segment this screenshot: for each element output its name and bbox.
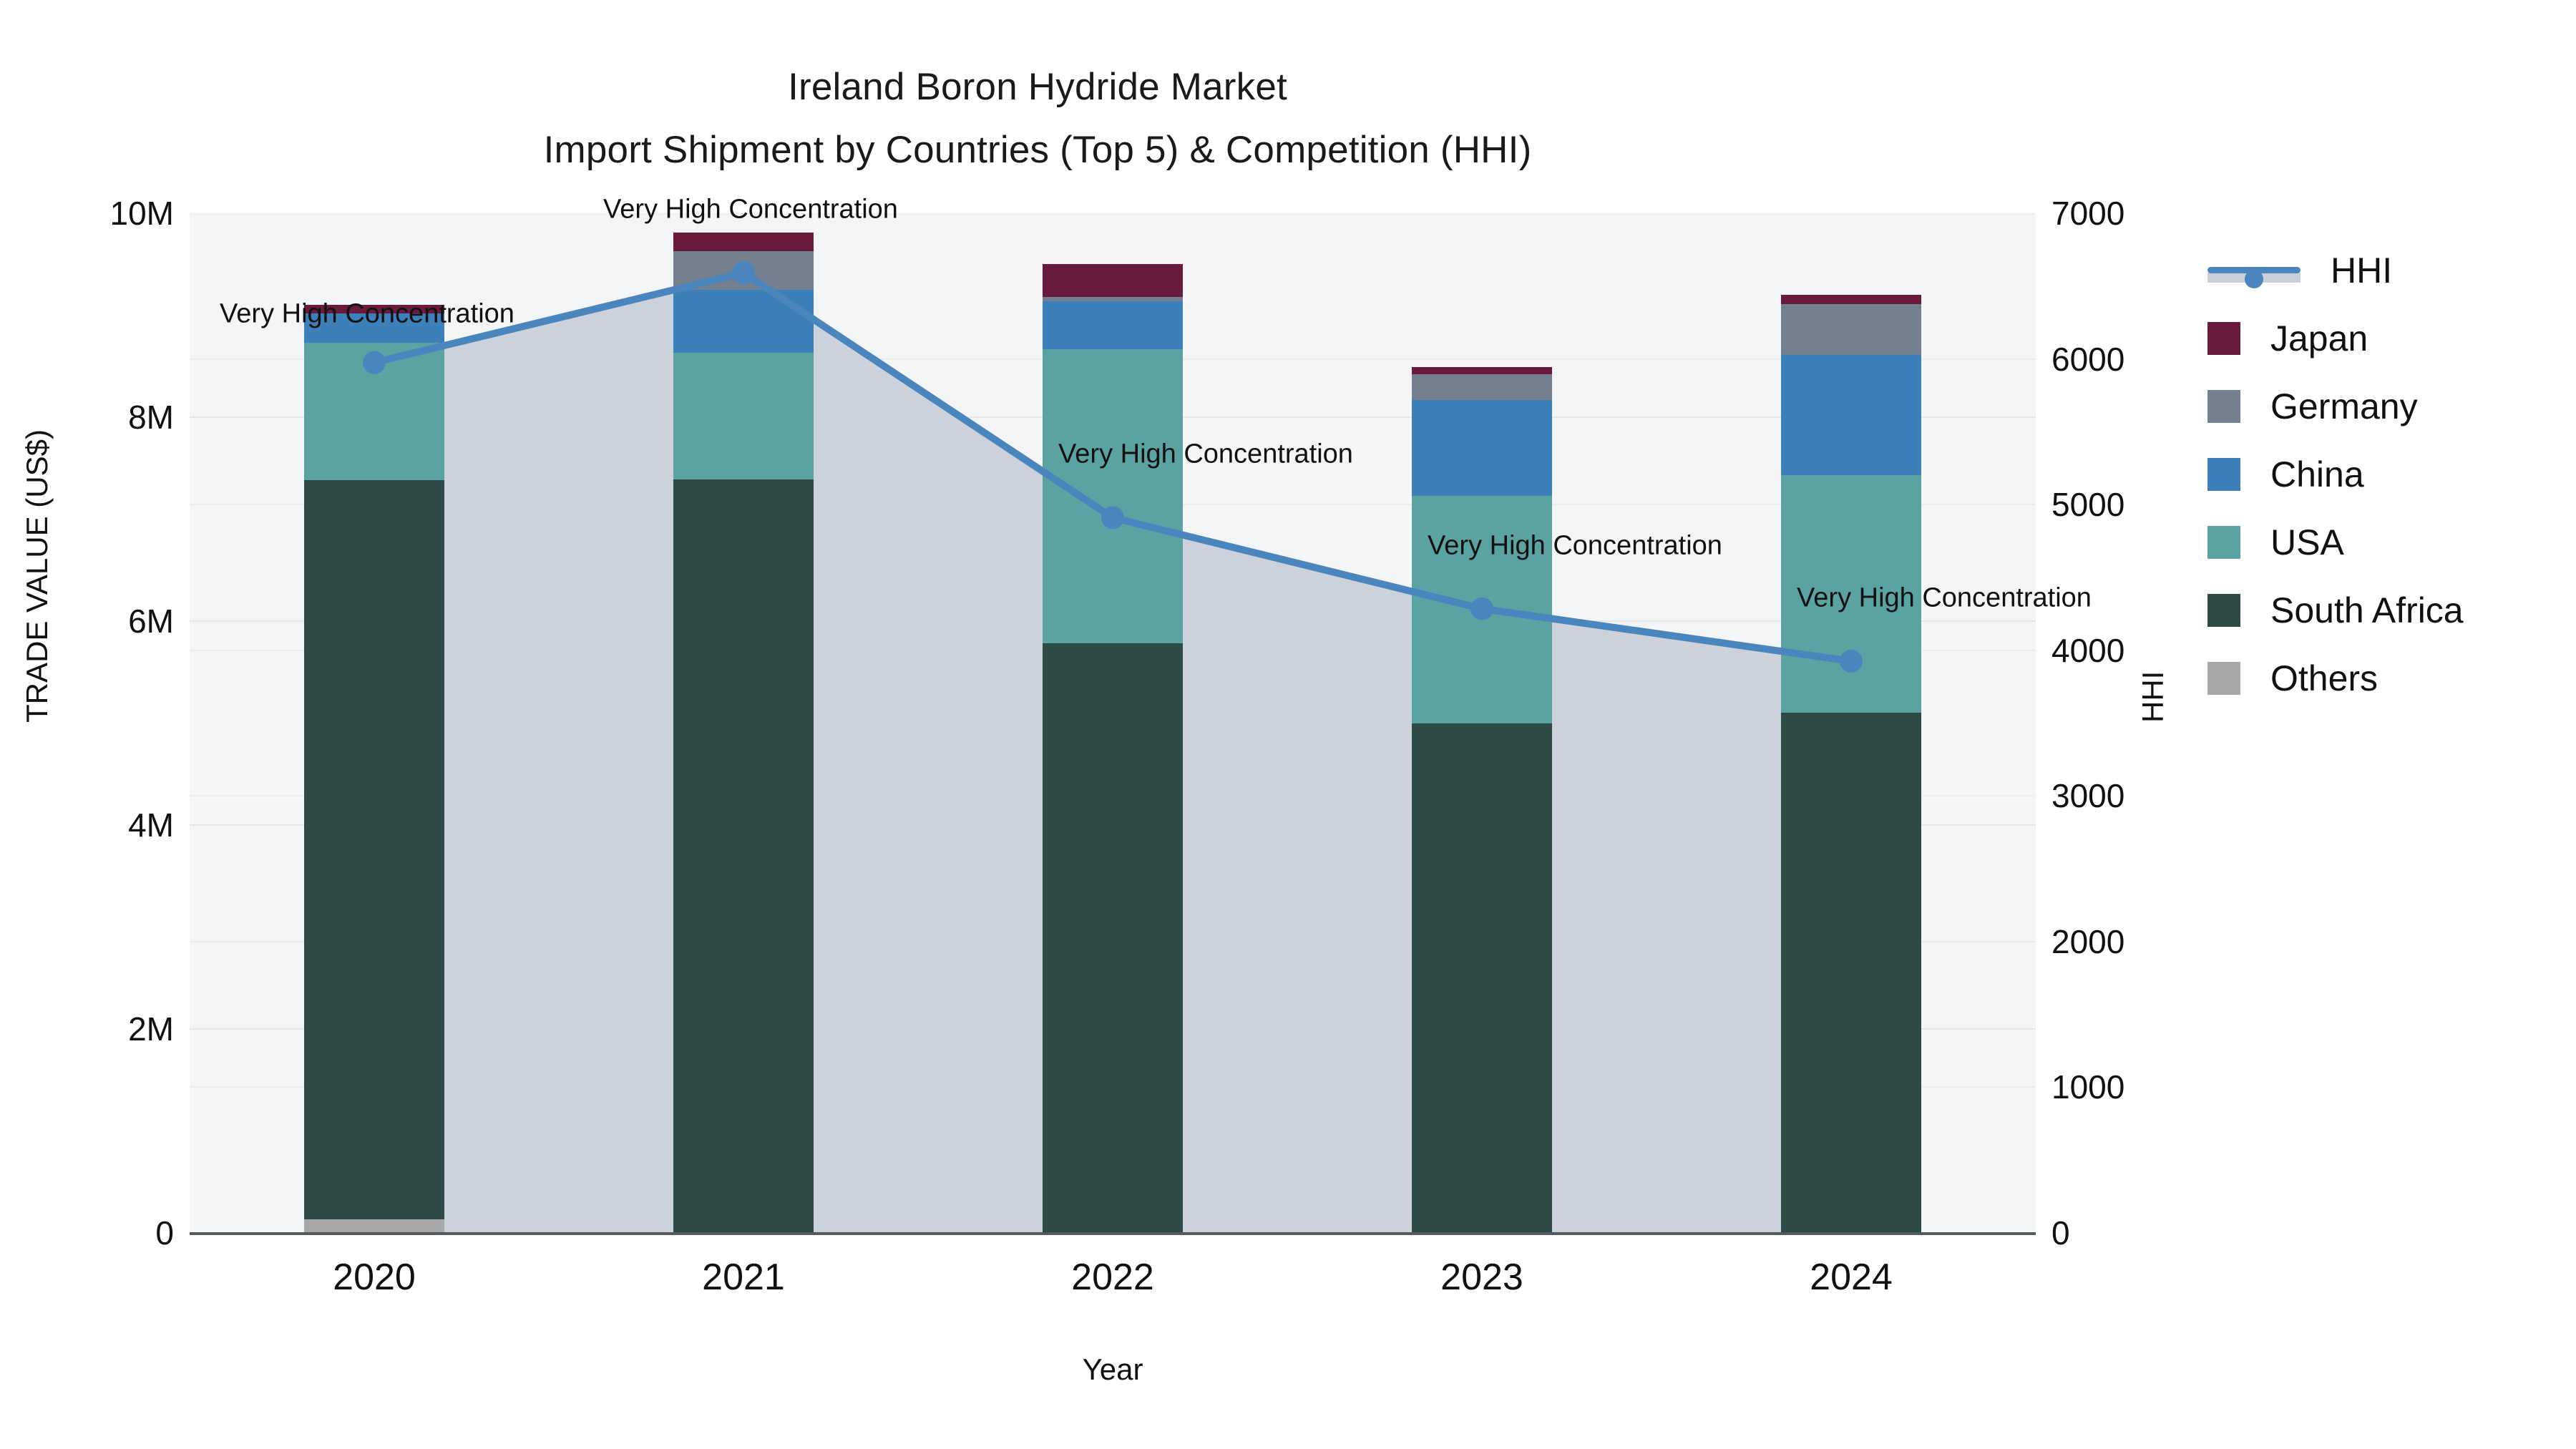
y-tick-label-right: 2000 bbox=[2051, 922, 2124, 961]
y-tick-label-left: 10M bbox=[110, 194, 174, 233]
annotation-2020: Very High Concentration bbox=[220, 298, 514, 329]
hhi-line-series[interactable] bbox=[190, 213, 2036, 1233]
plot-canvas bbox=[190, 213, 2036, 1233]
chart-subtitle: Import Shipment by Countries (Top 5) & C… bbox=[0, 119, 2075, 182]
y-tick-label-right: 5000 bbox=[2051, 485, 2124, 524]
legend-swatch-icon bbox=[2207, 322, 2240, 355]
hhi-marker-2024[interactable] bbox=[1840, 650, 1863, 673]
y-tick-label-right: 7000 bbox=[2051, 194, 2124, 233]
y-axis-title-left: TRADE VALUE (US$) bbox=[20, 429, 54, 723]
y-tick-label-left: 4M bbox=[128, 806, 174, 844]
y-tick-label-left: 6M bbox=[128, 602, 174, 640]
y-tick-label-right: 3000 bbox=[2051, 776, 2124, 815]
chart-title-block: Ireland Boron Hydride Market Import Ship… bbox=[0, 56, 2075, 182]
legend-label: Others bbox=[2270, 658, 2378, 699]
legend-label: Germany bbox=[2270, 386, 2418, 427]
legend-label: South Africa bbox=[2270, 590, 2464, 631]
legend-label: USA bbox=[2270, 522, 2344, 563]
y-tick-label-right: 4000 bbox=[2051, 631, 2124, 670]
x-tick-label-2020: 2020 bbox=[333, 1256, 416, 1299]
annotation-2023: Very High Concentration bbox=[1428, 530, 1722, 561]
plot-area bbox=[190, 213, 2036, 1233]
y-tick-label-left: 2M bbox=[128, 1010, 174, 1048]
annotation-2022: Very High Concentration bbox=[1058, 439, 1353, 470]
y-tick-label-right: 0 bbox=[2051, 1214, 2070, 1252]
x-axis-line bbox=[190, 1232, 2036, 1235]
chart-legend: HHIJapanGermanyChinaUSASouth AfricaOther… bbox=[2207, 236, 2565, 712]
y-tick-label-right: 6000 bbox=[2051, 340, 2124, 379]
y-axis-title-right: HHI bbox=[2136, 671, 2170, 723]
x-tick-label-2022: 2022 bbox=[1071, 1256, 1154, 1299]
legend-item-south-africa[interactable]: South Africa bbox=[2207, 576, 2565, 644]
legend-item-hhi[interactable]: HHI bbox=[2207, 236, 2565, 304]
legend-item-china[interactable]: China bbox=[2207, 440, 2565, 508]
y-tick-label-right: 1000 bbox=[2051, 1068, 2124, 1106]
legend-item-japan[interactable]: Japan bbox=[2207, 304, 2565, 372]
hhi-marker-2023[interactable] bbox=[1470, 597, 1493, 620]
legend-swatch-icon bbox=[2207, 458, 2240, 491]
legend-swatch-icon bbox=[2207, 526, 2240, 559]
hhi-marker-2022[interactable] bbox=[1101, 506, 1124, 529]
x-tick-label-2021: 2021 bbox=[702, 1256, 785, 1299]
x-axis-title: Year bbox=[190, 1352, 2036, 1387]
legend-item-usa[interactable]: USA bbox=[2207, 508, 2565, 576]
x-tick-label-2024: 2024 bbox=[1810, 1256, 1893, 1299]
annotation-2024: Very High Concentration bbox=[1797, 582, 2092, 613]
legend-label: Japan bbox=[2270, 318, 2368, 359]
annotation-2021: Very High Concentration bbox=[603, 195, 898, 225]
y-tick-label-left: 0 bbox=[155, 1214, 174, 1252]
legend-item-germany[interactable]: Germany bbox=[2207, 372, 2565, 440]
chart-root: Ireland Boron Hydride Market Import Ship… bbox=[0, 0, 2576, 1449]
legend-swatch-icon bbox=[2207, 662, 2240, 695]
legend-swatch-icon bbox=[2207, 594, 2240, 627]
hhi-marker-2020[interactable] bbox=[363, 351, 386, 374]
legend-label: HHI bbox=[2331, 250, 2392, 291]
y-tick-label-left: 8M bbox=[128, 398, 174, 436]
chart-title: Ireland Boron Hydride Market bbox=[0, 56, 2075, 119]
legend-line-marker-icon bbox=[2207, 254, 2301, 287]
hhi-marker-2021[interactable] bbox=[732, 261, 755, 284]
legend-swatch-icon bbox=[2207, 390, 2240, 423]
legend-item-others[interactable]: Others bbox=[2207, 644, 2565, 712]
legend-label: China bbox=[2270, 454, 2364, 495]
x-tick-label-2023: 2023 bbox=[1440, 1256, 1523, 1299]
